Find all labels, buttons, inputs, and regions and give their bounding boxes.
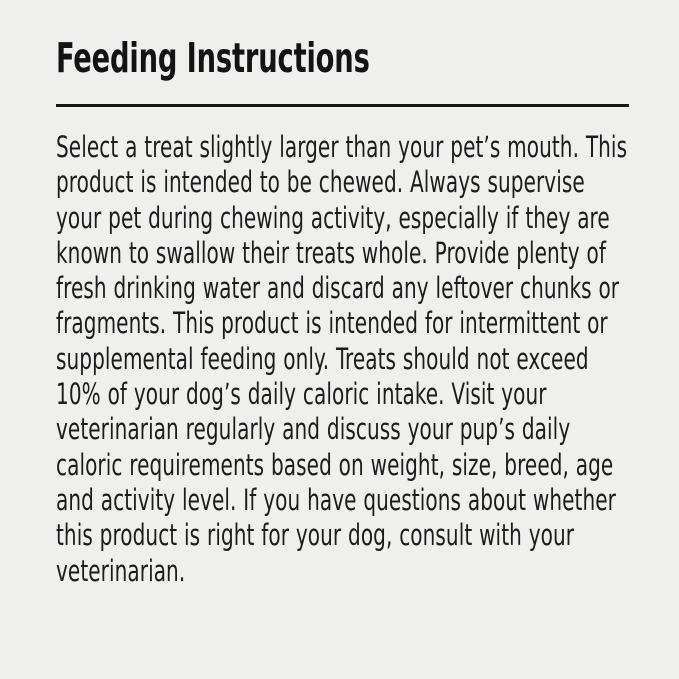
feeding-instructions-panel: Feeding Instructions Select a treat slig… (0, 0, 679, 679)
feeding-instructions-text: Select a treat slightly larger than your… (56, 130, 630, 589)
page-title: Feeding Instructions (56, 33, 370, 83)
title-divider (56, 104, 629, 107)
